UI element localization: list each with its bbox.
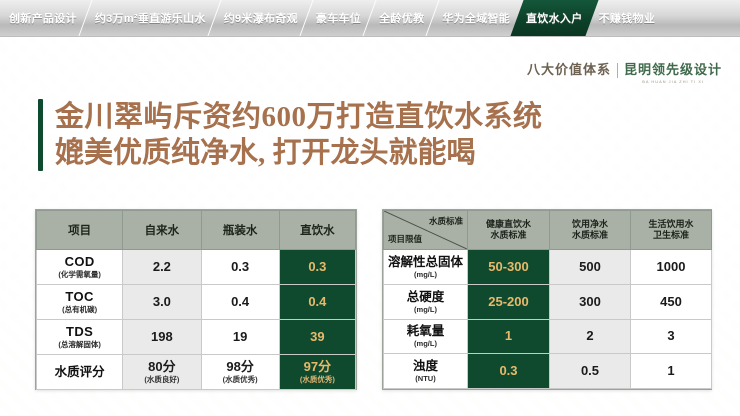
nav-item-label: 直饮水入户 (526, 10, 583, 26)
cell-domestic-standard: 1 (631, 354, 712, 389)
table-row: 浊度(NTU) 0.3 0.5 1 (384, 354, 712, 389)
cell-healthy-standard: 50-300 (468, 250, 550, 285)
nav-item-3[interactable]: 豪车车位 (307, 0, 370, 36)
row-label-main: 耗氧量 (407, 324, 445, 338)
nav-item-label: 创新产品设计 (9, 10, 77, 26)
table-row: 水质评分 80分 (水质良好) 98分 (水质优秀) 97分 (水质优秀) (37, 355, 356, 390)
row-label-sub: (总溶解固体) (37, 340, 122, 349)
column-header-bottled-water: 瓶装水 (201, 211, 279, 250)
table-row: 溶解性总固体(mg/L) 50-300 500 1000 (384, 250, 712, 285)
row-label-toc: TOC(总有机碳) (37, 285, 123, 320)
column-header-healthy-direct-drinking: 健康直饮水 水质标准 (468, 211, 550, 250)
cell-bottled-water: 0.4 (201, 285, 279, 320)
cell-tap-water: 2.2 (123, 250, 201, 285)
table-row: 总硬度(mg/L) 25-200 300 450 (384, 284, 712, 319)
cell-domestic-standard: 450 (631, 284, 712, 319)
row-label-sub: (mg/L) (384, 305, 467, 314)
nav-item-0[interactable]: 创新产品设计 (0, 0, 86, 36)
cell-purified-standard: 500 (550, 250, 631, 285)
row-label-sub: (mg/L) (384, 270, 467, 279)
nav-item-label: 豪车车位 (316, 10, 361, 26)
cell-bottled-water: 0.3 (201, 250, 279, 285)
water-comparison-table: 项目 自来水 瓶装水 直饮水 COD(化学需氧量) 2.2 0.3 0.3 (35, 209, 357, 390)
headline-block: 金川翠屿斥资约600万打造直饮水系统 媲美优质纯净水, 打开龙头就能喝 (38, 99, 543, 171)
column-header-direct-drinking-water: 直饮水 (279, 211, 355, 250)
cell-tap-water: 198 (123, 320, 201, 355)
row-label-tds: TDS(总溶解固体) (37, 320, 123, 355)
brand-subtitle-cn: 昆明领先级设计 (624, 62, 722, 78)
row-label-sub: (化学需氧量) (37, 270, 122, 279)
headline-accent-bar (38, 99, 43, 171)
row-label-water-score: 水质评分 (37, 355, 123, 390)
cell-direct-drinking-water: 0.4 (279, 285, 355, 320)
row-label-tds-dissolved-solids: 溶解性总固体(mg/L) (384, 250, 468, 285)
brand-main-title: 八大价值体系 (527, 62, 611, 78)
cell-bottled-water: 98分 (水质优秀) (201, 355, 279, 390)
column-header-purified-drinking: 饮用净水 水质标准 (550, 211, 631, 250)
brand-subtitle-en: BA HUAN JIA ZHI TI XI (642, 79, 704, 84)
headline-text: 金川翠屿斥资约600万打造直饮水系统 媲美优质纯净水, 打开龙头就能喝 (55, 99, 543, 171)
nav-item-active-direct-drinking-water[interactable]: 直饮水入户 (511, 0, 599, 36)
row-label-main: TOC (65, 289, 93, 304)
cell-purified-standard: 2 (550, 319, 631, 354)
nav-item-label: 约3万m²垂直游乐山水 (95, 10, 206, 26)
column-header-domestic-drinking: 生活饮用水 卫生标准 (631, 211, 712, 250)
row-label-main: TDS (66, 324, 93, 339)
column-header-tap-water: 自来水 (123, 211, 201, 250)
nav-item-label: 全龄优教 (379, 10, 424, 26)
row-label-main: 溶解性总固体 (388, 255, 463, 269)
row-label-sub: (NTU) (384, 374, 467, 383)
cell-purified-standard: 300 (550, 284, 631, 319)
cell-healthy-standard: 1 (468, 319, 550, 354)
row-label-cod: COD(化学需氧量) (37, 250, 123, 285)
cell-purified-standard: 0.5 (550, 354, 631, 389)
water-standard-table: 水质标准 项目限值 健康直饮水 水质标准 饮用净水 水质标准 生活饮用水 卫生标… (382, 209, 712, 390)
cell-direct-drinking-water: 0.3 (279, 250, 355, 285)
row-label-sub: (总有机碳) (37, 305, 122, 314)
top-navigation: 创新产品设计 约3万m²垂直游乐山水 约9米瀑布奇观 豪车车位 全龄优教 华为全… (0, 0, 740, 37)
nav-item-4[interactable]: 全龄优教 (370, 0, 433, 36)
cell-domestic-standard: 1000 (631, 250, 712, 285)
nav-item-5[interactable]: 华为全域智能 (433, 0, 519, 36)
table-row: TDS(总溶解固体) 198 19 39 (37, 320, 356, 355)
row-label-sub: (mg/L) (384, 339, 467, 348)
row-label-oxygen-consumption: 耗氧量(mg/L) (384, 319, 468, 354)
cell-tap-water: 3.0 (123, 285, 201, 320)
nav-item-1[interactable]: 约3万m²垂直游乐山水 (86, 0, 215, 36)
table-row: COD(化学需氧量) 2.2 0.3 0.3 (37, 250, 356, 285)
slide-canvas: 创新产品设计 约3万m²垂直游乐山水 约9米瀑布奇观 豪车车位 全龄优教 华为全… (0, 0, 740, 416)
row-label-main: 浊度 (413, 359, 438, 373)
corner-header-bottom-left: 项目限值 (388, 233, 422, 245)
table-row: 耗氧量(mg/L) 1 2 3 (384, 319, 712, 354)
brand-divider (617, 63, 618, 78)
corner-header-cell: 水质标准 项目限值 (384, 211, 468, 250)
nav-item-label: 华为全域智能 (442, 10, 510, 26)
brand-subtitle-group: 昆明领先级设计 BA HUAN JIA ZHI TI XI (624, 62, 722, 84)
cell-tap-water: 80分 (水质良好) (123, 355, 201, 390)
row-label-main: 水质评分 (55, 365, 105, 379)
table-header-row: 水质标准 项目限值 健康直饮水 水质标准 饮用净水 水质标准 生活饮用水 卫生标… (384, 211, 712, 250)
row-label-total-hardness: 总硬度(mg/L) (384, 284, 468, 319)
nav-item-7[interactable]: 不赚钱物业 (590, 0, 665, 36)
cell-bottled-water: 19 (201, 320, 279, 355)
headline-line-2: 媲美优质纯净水, 打开龙头就能喝 (55, 135, 543, 171)
nav-item-label: 不赚钱物业 (599, 10, 656, 26)
cell-healthy-standard: 0.3 (468, 354, 550, 389)
row-label-turbidity: 浊度(NTU) (384, 354, 468, 389)
headline-line-1: 金川翠屿斥资约600万打造直饮水系统 (55, 99, 543, 135)
corner-header-top-right: 水质标准 (429, 215, 463, 227)
nav-item-2[interactable]: 约9米瀑布奇观 (215, 0, 307, 36)
column-header-item: 项目 (37, 211, 123, 250)
cell-domestic-standard: 3 (631, 319, 712, 354)
cell-direct-drinking-water: 39 (279, 320, 355, 355)
nav-item-label: 约9米瀑布奇观 (224, 10, 298, 26)
cell-direct-drinking-water: 97分 (水质优秀) (279, 355, 355, 390)
row-label-main: COD (65, 254, 95, 269)
row-label-main: 总硬度 (407, 290, 445, 304)
cell-healthy-standard: 25-200 (468, 284, 550, 319)
table-row: TOC(总有机碳) 3.0 0.4 0.4 (37, 285, 356, 320)
table-header-row: 项目 自来水 瓶装水 直饮水 (37, 211, 356, 250)
brand-block: 八大价值体系 昆明领先级设计 BA HUAN JIA ZHI TI XI (527, 62, 722, 84)
